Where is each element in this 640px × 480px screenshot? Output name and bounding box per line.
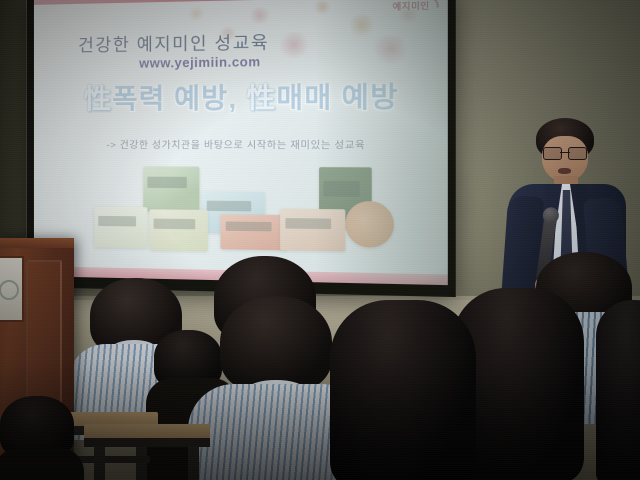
student-back-left [0, 396, 74, 480]
student-desk [84, 424, 210, 480]
product-box [280, 209, 345, 252]
student-shirt-dark [0, 448, 84, 480]
product-box [94, 207, 147, 248]
slide-title-segment-1: 폭력 예방, [112, 83, 246, 115]
classroom-photo: 예지미인 건강한 예지미인 성교육 www.yejimiin.com 性폭력 예… [0, 0, 640, 480]
podium-top [0, 238, 74, 248]
slide-subtitle: -> 건강한 성가치관을 바탕으로 시작하는 재미있는 성교육 [106, 137, 365, 152]
student-edge-right [596, 300, 640, 480]
product-box [143, 166, 199, 211]
projection-screen: 예지미인 건강한 예지미인 성교육 www.yejimiin.com 性폭력 예… [27, 0, 456, 297]
presenter-mouth [558, 168, 571, 174]
student-hair-long [596, 300, 640, 480]
product-decoration [345, 201, 394, 248]
slide-brand-logo: 예지미인 [393, 0, 430, 13]
product-photo-alt: 교재 상자 모음 사진 [86, 164, 87, 165]
student-hair-long [330, 300, 476, 480]
slide-title-hanja-2: 性 [246, 83, 276, 114]
slide-title-segment-2: 매매 예방 [276, 82, 398, 114]
student-hair [220, 296, 332, 392]
product-box [149, 209, 207, 251]
student-right-longhair [330, 300, 476, 480]
presentation-slide: 예지미인 건강한 예지미인 성교육 www.yejimiin.com 性폭력 예… [34, 0, 448, 285]
glasses-icon [543, 147, 587, 158]
slide-main-title: 性폭력 예방, 性매매 예방 [46, 74, 441, 117]
product-box [220, 214, 286, 250]
podium-emblem-plate [0, 256, 24, 322]
slide-headline: 건강한 예지미인 성교육 [78, 28, 269, 57]
slide-title-hanja-1: 性 [84, 84, 112, 115]
slide-website-url: www.yejimiin.com [139, 55, 261, 71]
